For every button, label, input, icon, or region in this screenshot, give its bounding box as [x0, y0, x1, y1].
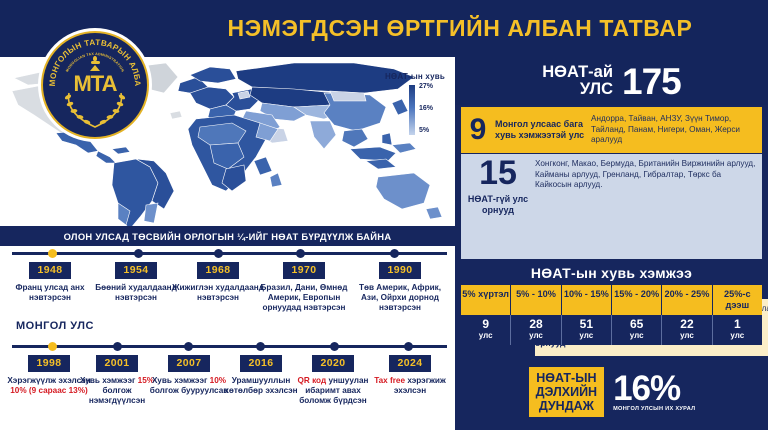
timeline-year-badge: 1968: [197, 262, 240, 279]
timeline-mongolia-line: [12, 345, 447, 348]
global-average-block: НӨАТ-ЫН ДЭЛХИЙН ДУНДАЖ 16% МОНГОЛ УЛСЫН …: [461, 361, 762, 423]
global-average-label: НӨАТ-ЫН ДЭЛХИЙН ДУНДАЖ: [528, 366, 605, 418]
highlight-band: ОЛОН УЛСАД ТӨСВИЙН ОРЛОГЫН ¼-ИЙГ НӨАТ БҮ…: [0, 226, 455, 246]
vat-countries-header: НӨАТ-ай УЛС 175: [455, 57, 768, 105]
timeline-mn-dot-3: [184, 342, 193, 351]
legend-title: НӨАТ-ын хувь: [349, 72, 445, 81]
timeline-year-badge: 1970: [283, 262, 326, 279]
stats-panel: НӨАТ-ай УЛС 175 9 Монгол улсаас бага хув…: [455, 57, 768, 430]
rate-bucket-header: 10% - 15%: [562, 285, 612, 315]
timeline-mn-dot-1: [48, 342, 57, 351]
timeline-mn-item-5: 2020 QR код уншуулан ибаримт авах боломж…: [292, 353, 374, 406]
no-vat-list: Хонгконг, Макао, Бермуда, Британийн Вирж…: [535, 159, 757, 191]
rate-bucket-value: 51улс: [562, 315, 612, 345]
legend-tick-low: 5%: [419, 127, 429, 134]
timeline-world-dot-3: [214, 249, 223, 258]
legend-tick-high: 27%: [419, 83, 433, 90]
no-vat-countries-row: 15 НӨАТ-гүй улс орнууд Хонгконг, Макао, …: [461, 154, 762, 259]
lower-rate-title: Монгол улсаас бага хувь хэмжээтэй улс: [495, 119, 591, 141]
global-average-value-block: 16% МОНГОЛ УЛСЫН ИХ ХУРАЛ: [613, 372, 695, 412]
timeline-mn-dot-6: [404, 342, 413, 351]
rate-bucket-header: 20% - 25%: [662, 285, 712, 315]
map-legend: НӨАТ-ын хувь 27% 16% 5%: [349, 72, 445, 135]
page-title: НЭМЭГДСЭН ӨРТГИЙН АЛБАН ТАТВАР: [168, 16, 752, 41]
no-vat-count: 15: [467, 156, 529, 190]
timeline-world-dot-4: [296, 249, 305, 258]
logo-core: MTA: [65, 54, 125, 116]
timeline-desc: Бразил, Дани, Өмнөд Америк, Европын орну…: [254, 283, 354, 313]
rate-table-title: НӨАТ-ын хувь хэмжээ: [461, 265, 762, 281]
timeline-year-badge: 1954: [115, 262, 158, 279]
lower-rate-count: 9: [461, 115, 495, 145]
highlight-band-text: ОЛОН УЛСАД ТӨСВИЙН ОРЛОГЫН ¼-ИЙГ НӨАТ БҮ…: [64, 231, 392, 242]
rate-bucket-header: 5% - 10%: [511, 285, 561, 315]
vat-countries-label: НӨАТ-ай УЛС: [542, 64, 613, 98]
timeline-year-badge: 2024: [389, 355, 432, 372]
rate-bucket-value: 1улс: [713, 315, 762, 345]
organization-logo: МОНГОЛЫН ТАТВАРЫН АЛБА MONGOLIAN TAX ADM…: [38, 28, 152, 142]
timeline-world-line: [12, 252, 447, 255]
timeline-mn-item-6: 2024 Tax free хэрэгжиж эхэлсэн: [370, 353, 450, 396]
soyombo-icon: [89, 56, 102, 73]
timeline-world-dot-5: [390, 249, 399, 258]
mongolia-section-label: МОНГОЛ УЛС: [16, 320, 94, 332]
timeline-world-dot-2: [134, 249, 143, 258]
rate-bucket-header: 15% - 20%: [612, 285, 662, 315]
timeline-year-badge: 2007: [168, 355, 211, 372]
timeline-year-badge: 1990: [379, 262, 422, 279]
timeline-mongolia: 1998 Хэрэгжүүлж эхэлсэн 10% (9 сараас 13…: [0, 345, 455, 430]
timeline-mn-dot-2: [113, 342, 122, 351]
rate-bucket-value: 65улс: [612, 315, 662, 345]
timeline-world-item-3: 1968 Жижиглэн худалдаанд нэвтэрсэн: [172, 260, 264, 303]
timeline-year-badge: 2016: [240, 355, 283, 372]
timeline-year-badge: 2020: [312, 355, 355, 372]
rate-bucket-header: 5% хүртэл: [461, 285, 511, 315]
rate-bucket-value: 28улс: [511, 315, 561, 345]
timeline-desc: QR код уншуулан ибаримт авах боломж бүрд…: [292, 376, 374, 406]
timeline-world-item-5: 1990 Төв Америк, Африк, Ази, Ойрхи дорно…: [352, 260, 448, 313]
rate-bucket-value: 22улс: [662, 315, 712, 345]
vat-countries-count: 175: [622, 63, 681, 100]
infographic-page: НЭМЭГДСЭН ӨРТГИЙН АЛБАН ТАТВАР МОНГОЛЫН …: [0, 0, 768, 430]
rate-bucket-value: 9улс: [461, 315, 511, 345]
timeline-mn-dot-5: [330, 342, 339, 351]
timeline-world-item-1: 1948 Франц улсад анх нэвтэрсэн: [4, 260, 96, 303]
timeline-world-item-2: 1954 Бөөний худалдаанд нэвтэрсэн: [90, 260, 182, 303]
timeline-year-badge: 1998: [28, 355, 71, 372]
logo-monogram: MTA: [73, 74, 116, 94]
timeline-desc: Бөөний худалдаанд нэвтэрсэн: [90, 283, 182, 303]
no-vat-title: НӨАТ-гүй улс орнууд: [467, 194, 529, 216]
global-average-value: 16%: [613, 372, 680, 405]
rate-table-values-row: 9улс 28улс 51улс 65улс 22улс 1улс: [461, 315, 762, 345]
lower-rate-list: Андорра, Тайван, АНЗУ, Зүүн Тимор, Тайла…: [591, 114, 762, 146]
legend-ticks: 27% 16% 5%: [419, 85, 445, 135]
timeline-mn-dot-4: [256, 342, 265, 351]
rate-bucket-header: 25%-с дээш: [713, 285, 762, 315]
timeline-world-dot-1: [48, 249, 57, 258]
timeline-desc: Tax free хэрэгжиж эхэлсэн: [370, 376, 450, 396]
rate-table: 5% хүртэл 5% - 10% 10% - 15% 15% - 20% 2…: [461, 285, 762, 345]
timeline-desc: Төв Америк, Африк, Ази, Ойрхи дорнод нэв…: [352, 283, 448, 313]
rate-table-header-row: 5% хүртэл 5% - 10% 10% - 15% 15% - 20% 2…: [461, 285, 762, 315]
timeline-world-item-4: 1970 Бразил, Дани, Өмнөд Америк, Европын…: [254, 260, 354, 313]
source-credit: МОНГОЛ УЛСЫН ИХ ХУРАЛ: [613, 406, 695, 412]
logo-emblem: МОНГОЛЫН ТАТВАРЫН АЛБА MONGOLIAN TAX ADM…: [41, 31, 149, 139]
timeline-year-badge: 1948: [29, 262, 72, 279]
timeline-world: 1948 Франц улсад анх нэвтэрсэн 1954 Бөөн…: [0, 252, 455, 316]
timeline-year-badge: 2001: [96, 355, 139, 372]
legend-tick-mid: 16%: [419, 105, 433, 112]
timeline-desc: Франц улсад анх нэвтэрсэн: [4, 283, 96, 303]
timeline-desc: Жижиглэн худалдаанд нэвтэрсэн: [172, 283, 264, 303]
lower-rate-countries-row: 9 Монгол улсаас бага хувь хэмжээтэй улс …: [461, 107, 762, 153]
legend-gradient-bar: [409, 85, 415, 135]
